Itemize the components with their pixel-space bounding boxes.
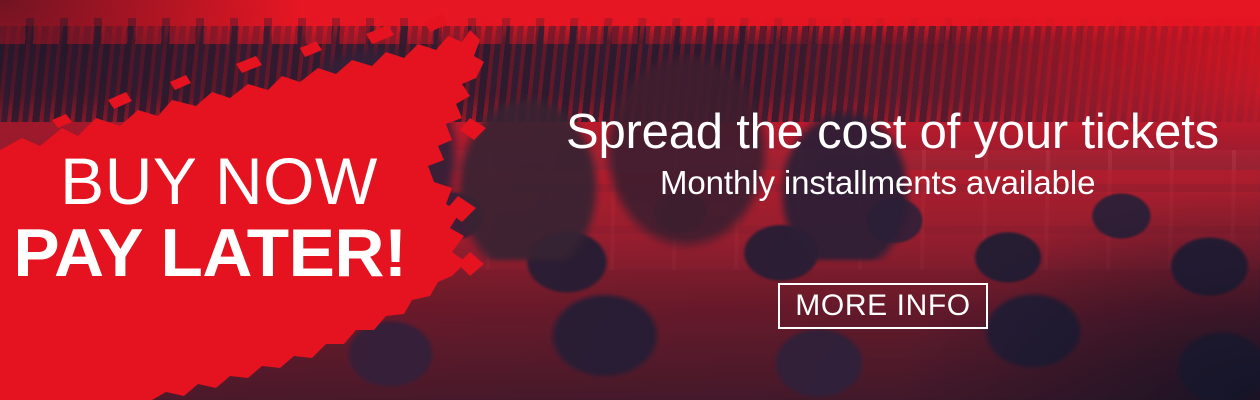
subheadline: Monthly installments available: [660, 163, 1095, 203]
more-info-button[interactable]: MORE INFO: [778, 283, 988, 329]
promo-banner: BUY NOW PAY LATER! Spread the cost of yo…: [0, 0, 1260, 400]
promo-copy: BUY NOW PAY LATER!: [0, 148, 420, 288]
promo-line-pay-later: PAY LATER!: [0, 218, 424, 288]
promo-line-buy-now: BUY NOW: [0, 148, 420, 214]
headline: Spread the cost of your tickets: [566, 103, 1219, 161]
